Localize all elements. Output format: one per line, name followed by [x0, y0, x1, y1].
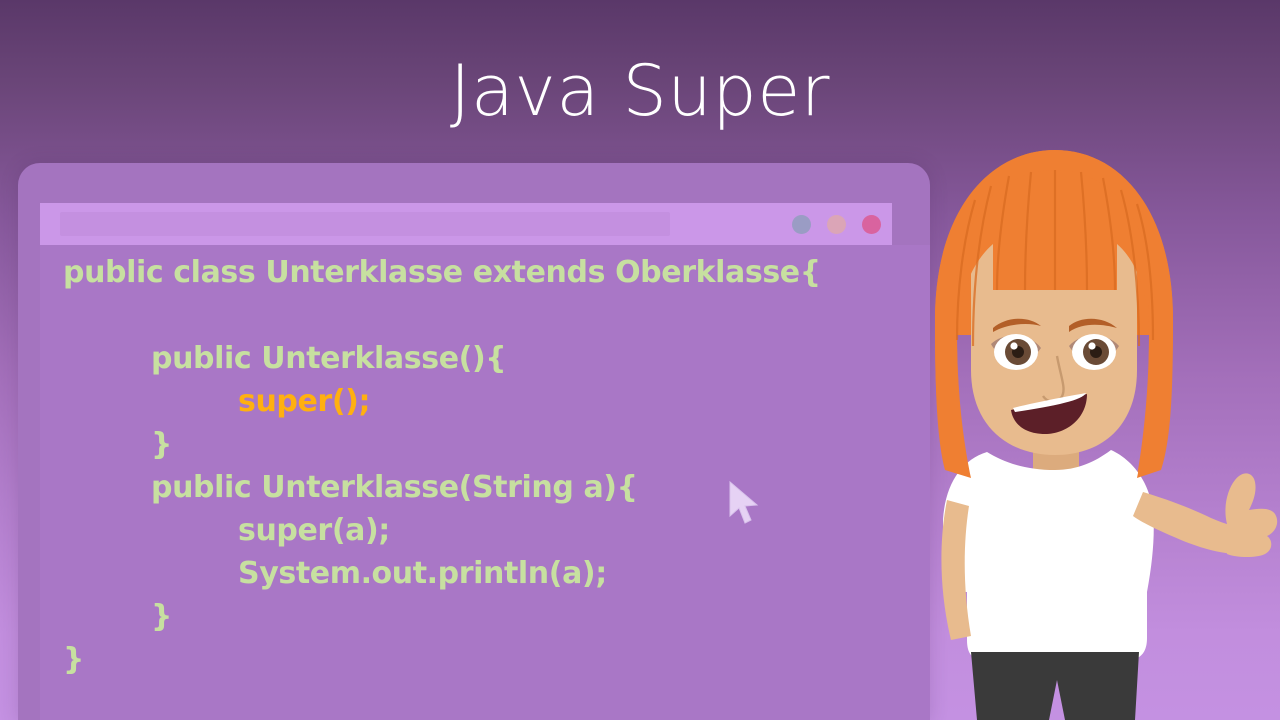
code-line: System.out.println(a); [63, 552, 821, 595]
code-window: public class Unterklasse extends Oberkla… [18, 163, 930, 720]
window-dot-pink-icon[interactable] [827, 215, 846, 234]
shirt [943, 450, 1154, 660]
address-bar-input[interactable] [60, 212, 670, 236]
code-line: } [63, 638, 821, 681]
window-dot-blue-icon[interactable] [792, 215, 811, 234]
code-line: } [63, 595, 821, 638]
code-line: super(); [63, 380, 821, 423]
window-titlebar [40, 203, 892, 245]
mouse-pointer-icon [728, 480, 762, 526]
code-line: super(a); [63, 509, 821, 552]
eye-glint-right [1088, 342, 1095, 349]
presenter-character [905, 140, 1280, 720]
pants [971, 652, 1139, 720]
code-editor-area[interactable]: public class Unterklasse extends Oberkla… [40, 245, 930, 720]
eye-glint-left [1010, 342, 1017, 349]
code-line: public Unterklasse(){ [63, 337, 821, 380]
window-dot-rose-icon[interactable] [862, 215, 881, 234]
code-listing: public class Unterklasse extends Oberkla… [63, 251, 821, 681]
slide-canvas: Java Super public class Unterklasse exte… [0, 0, 1280, 720]
thumbs-up-hand [1225, 473, 1277, 557]
code-line: public class Unterklasse extends Oberkla… [63, 251, 821, 294]
page-title: Java Super [0, 56, 1280, 126]
code-line [63, 294, 821, 337]
code-line: } [63, 423, 821, 466]
code-line: public Unterklasse(String a){ [63, 466, 821, 509]
